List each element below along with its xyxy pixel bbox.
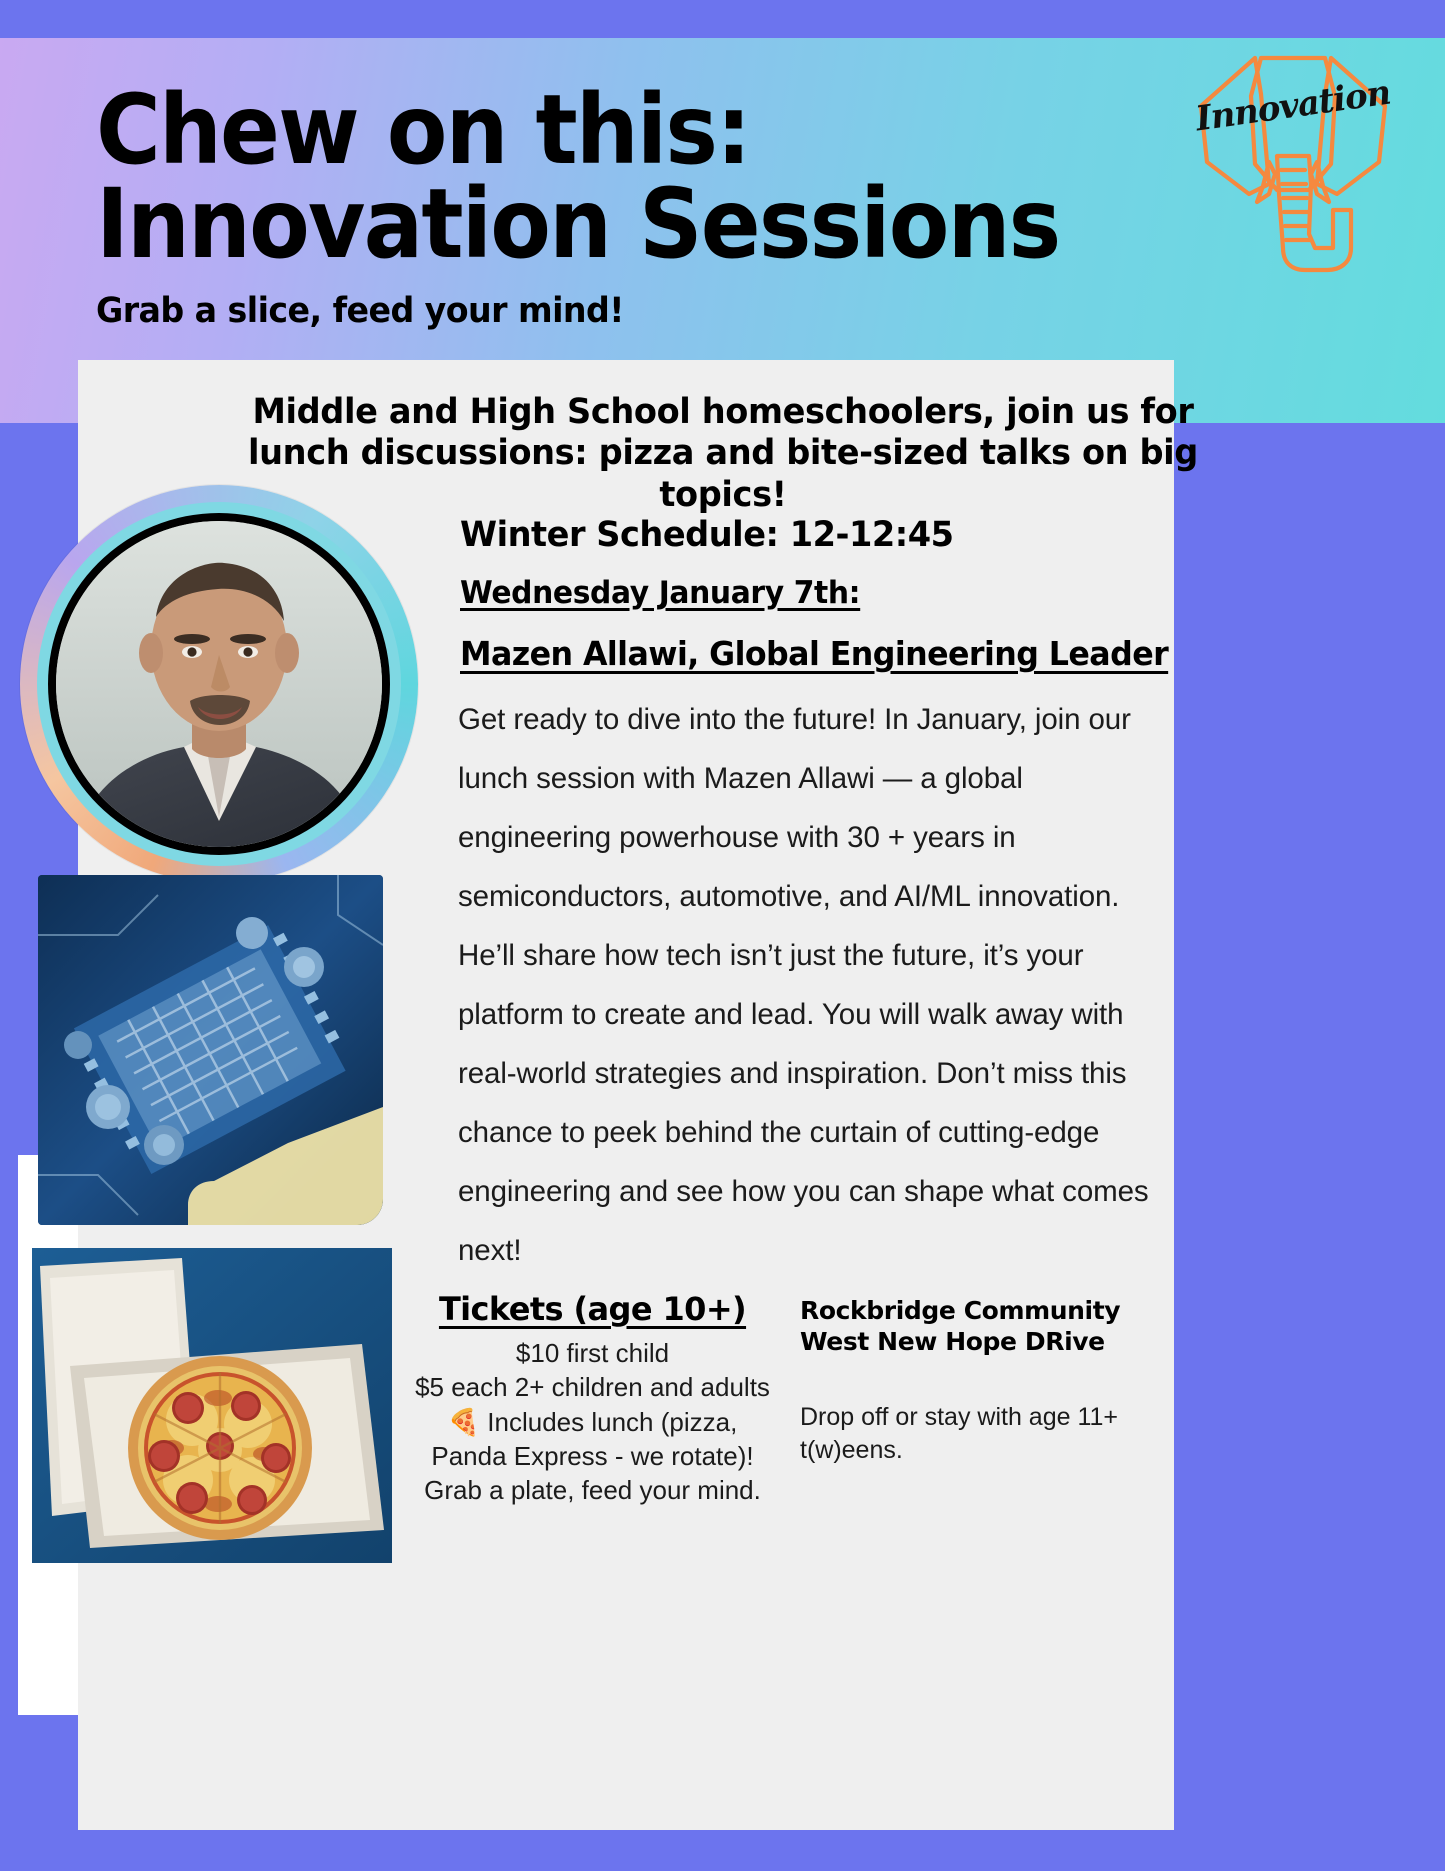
flyer-page: Chew on this: Innovation Sessions Grab a…: [0, 0, 1445, 1871]
title-line-2: Innovation Sessions: [96, 177, 1016, 271]
venue-block: Rockbridge Community West New Hope DRive…: [800, 1295, 1130, 1467]
portrait-photo: [56, 521, 382, 847]
subtitle: Grab a slice, feed your mind!: [96, 291, 1046, 331]
tickets-block: Tickets (age 10+) $10 first child $5 eac…: [410, 1290, 775, 1508]
portrait-ring-teal: [37, 502, 401, 866]
tickets-title: Tickets (age 10+): [410, 1290, 775, 1328]
session-date: Wednesday January 7th:: [460, 575, 1132, 611]
title-line-1: Chew on this:: [96, 83, 1016, 177]
tickets-line: Grab a plate, feed your mind.: [410, 1473, 775, 1507]
intro-text: Middle and High School homeschoolers, jo…: [209, 392, 1236, 516]
circuit-board-photo: [38, 875, 383, 1225]
venue-name-line-2: West New Hope DRive: [800, 1326, 1130, 1357]
schedule-heading: Winter Schedule: 12-12:45: [460, 515, 1132, 555]
session-description: Get ready to dive into the future! In Ja…: [458, 690, 1158, 1280]
speaker-portrait: [20, 485, 418, 883]
tickets-line: $10 first child: [410, 1336, 775, 1370]
speaker-name-title: Mazen Allawi, Global Engineering Leader: [460, 634, 1151, 673]
tickets-line: Panda Express - we rotate)!: [410, 1439, 775, 1473]
venue-name-line-1: Rockbridge Community: [800, 1295, 1130, 1326]
venue-note: Drop off or stay with age 11+ t(w)eens.: [800, 1401, 1130, 1467]
title-block: Chew on this: Innovation Sessions Grab a…: [96, 83, 1096, 331]
pizza-box-photo: [32, 1248, 392, 1563]
tickets-line: 🍕 Includes lunch (pizza,: [410, 1405, 775, 1439]
tickets-line: $5 each 2+ children and adults: [410, 1370, 775, 1404]
portrait-ring-black: [48, 513, 390, 855]
elephant-logo: Innovation: [1183, 38, 1403, 279]
